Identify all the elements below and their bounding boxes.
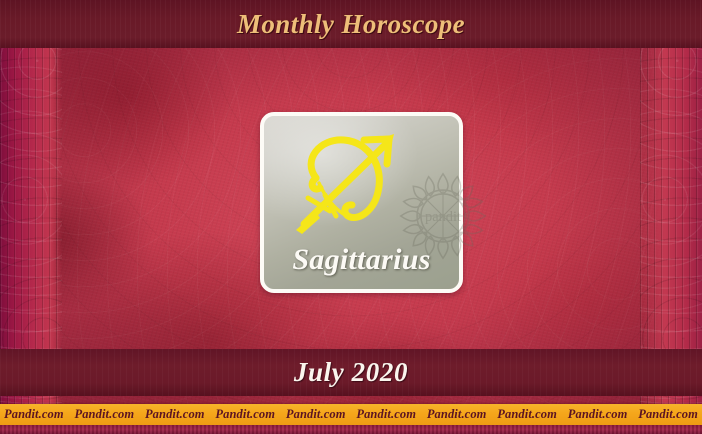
footer-watermark-text: Pandit.com	[4, 407, 64, 422]
footer-watermark-text: Pandit.com	[356, 407, 416, 422]
month-band: July 2020	[0, 349, 702, 396]
footer-watermark-text: Pandit.com	[427, 407, 487, 422]
horoscope-banner: Monthly Horoscope	[0, 0, 702, 434]
footer-under-band	[0, 425, 702, 434]
footer-watermark-strip: Pandit.comPandit.comPandit.comPandit.com…	[0, 404, 702, 425]
footer-watermark-text: Pandit.com	[74, 407, 134, 422]
footer-watermark-text: Pandit.com	[497, 407, 557, 422]
header-band: Monthly Horoscope	[0, 0, 702, 48]
sagittarius-bow-arrow-icon	[286, 126, 404, 238]
footer-watermark-text: Pandit.com	[145, 407, 205, 422]
month-year-label: July 2020	[294, 357, 408, 388]
page-title: Monthly Horoscope	[237, 9, 465, 40]
footer-watermark-text: Pandit.com	[215, 407, 275, 422]
footer-watermark-text: Pandit.com	[638, 407, 698, 422]
footer-watermark-text: Pandit.com	[286, 407, 346, 422]
footer-watermark-text: Pandit.com	[568, 407, 628, 422]
